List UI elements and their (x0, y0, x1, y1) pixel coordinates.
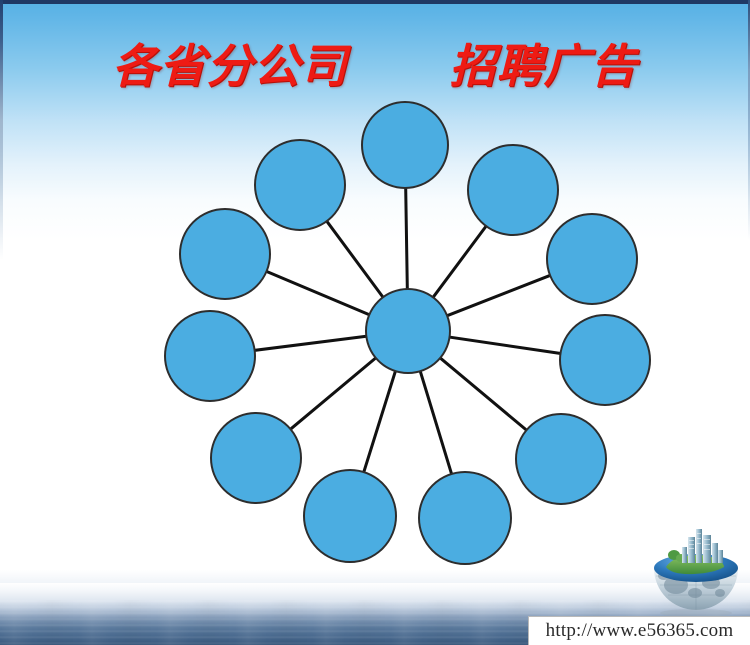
diagram-spoke (445, 275, 552, 317)
diagram-nodes (165, 102, 650, 564)
slide-canvas: 各省分公司 招聘广告 (0, 0, 750, 645)
diagram-spoke (406, 186, 408, 291)
diagram-spoke (289, 357, 377, 431)
diagram-node[interactable] (547, 214, 637, 304)
node-circle[interactable] (304, 470, 396, 562)
diagram-spoke (326, 220, 385, 299)
diagram-spoke (265, 271, 371, 316)
node-circle[interactable] (547, 214, 637, 304)
node-circle[interactable] (419, 472, 511, 564)
diagram-spoke (363, 369, 396, 474)
node-circle[interactable] (180, 209, 270, 299)
diagram-node[interactable] (211, 413, 301, 503)
watermark-url-text: http://www.e56365.com (546, 620, 734, 642)
node-circle[interactable] (468, 145, 558, 235)
node-circle[interactable] (165, 311, 255, 401)
diagram-node[interactable] (255, 140, 345, 230)
watermark-url-box: http://www.e56365.com (528, 616, 750, 645)
diagram-spoke (432, 224, 487, 298)
diagram-spoke (439, 357, 528, 432)
node-circle[interactable] (211, 413, 301, 503)
diagram-node[interactable] (516, 414, 606, 504)
diagram-spoke (448, 337, 563, 354)
diagram-spoke (420, 369, 453, 476)
diagram-node[interactable] (560, 315, 650, 405)
diagram-node[interactable] (165, 311, 255, 401)
diagram-node[interactable] (304, 470, 396, 562)
diagram-hub-node[interactable] (366, 289, 450, 373)
node-circle[interactable] (516, 414, 606, 504)
node-circle[interactable] (366, 289, 450, 373)
diagram-node[interactable] (419, 472, 511, 564)
diagram-node[interactable] (180, 209, 270, 299)
radial-hub-diagram (0, 0, 750, 645)
diagram-node[interactable] (362, 102, 448, 188)
node-circle[interactable] (560, 315, 650, 405)
diagram-node[interactable] (468, 145, 558, 235)
globe-city-logo (648, 523, 744, 619)
node-circle[interactable] (362, 102, 448, 188)
diagram-spoke (253, 336, 369, 351)
node-circle[interactable] (255, 140, 345, 230)
